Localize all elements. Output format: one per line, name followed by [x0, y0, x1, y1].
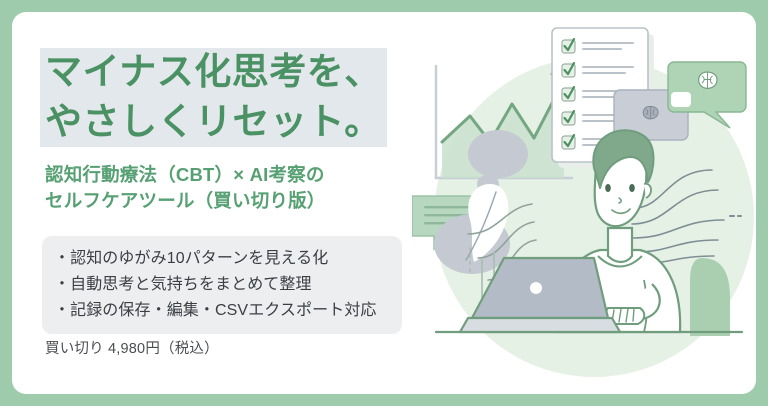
subtitle-line-2: セルフケアツール（買い切り版）: [45, 188, 326, 214]
headline-line-2: やさしくリセット。: [40, 98, 387, 148]
price-label: 買い切り 4,980円（税込）: [45, 337, 219, 358]
headline: マイナス化思考を、 やさしくリセット。: [40, 48, 387, 147]
banner-inner-card: マイナス化思考を、 やさしくリセット。 認知行動療法（CBT）× AI考察の セ…: [12, 12, 756, 394]
hero-illustration: [412, 12, 756, 394]
eye-left: [605, 184, 611, 192]
brain-icon: [699, 72, 717, 88]
list-item: ・認知のゆがみ10パターンを見える化: [54, 246, 390, 272]
subtitle: 認知行動療法（CBT）× AI考察の セルフケアツール（買い切り版）: [45, 162, 326, 215]
list-item: ・記録の保存・編集・CSVエクスポート対応: [54, 298, 390, 324]
subtitle-line-1: 認知行動療法（CBT）× AI考察の: [45, 162, 326, 188]
list-item: ・自動思考と気持ちをまとめて整理: [54, 272, 390, 298]
text-column: マイナス化思考を、 やさしくリセット。 認知行動療法（CBT）× AI考察の セ…: [40, 12, 420, 394]
feature-list: ・認知のゆがみ10パターンを見える化 ・自動思考と気持ちをまとめて整理 ・記録の…: [42, 236, 402, 334]
eye-right: [629, 184, 635, 192]
laptop-logo: [530, 282, 542, 294]
brain-icon: [643, 106, 658, 118]
chair: [690, 258, 730, 336]
headline-line-1: マイナス化思考を、: [40, 48, 387, 98]
banner-root: マイナス化思考を、 やさしくリセット。 認知行動療法（CBT）× AI考察の セ…: [0, 0, 768, 406]
